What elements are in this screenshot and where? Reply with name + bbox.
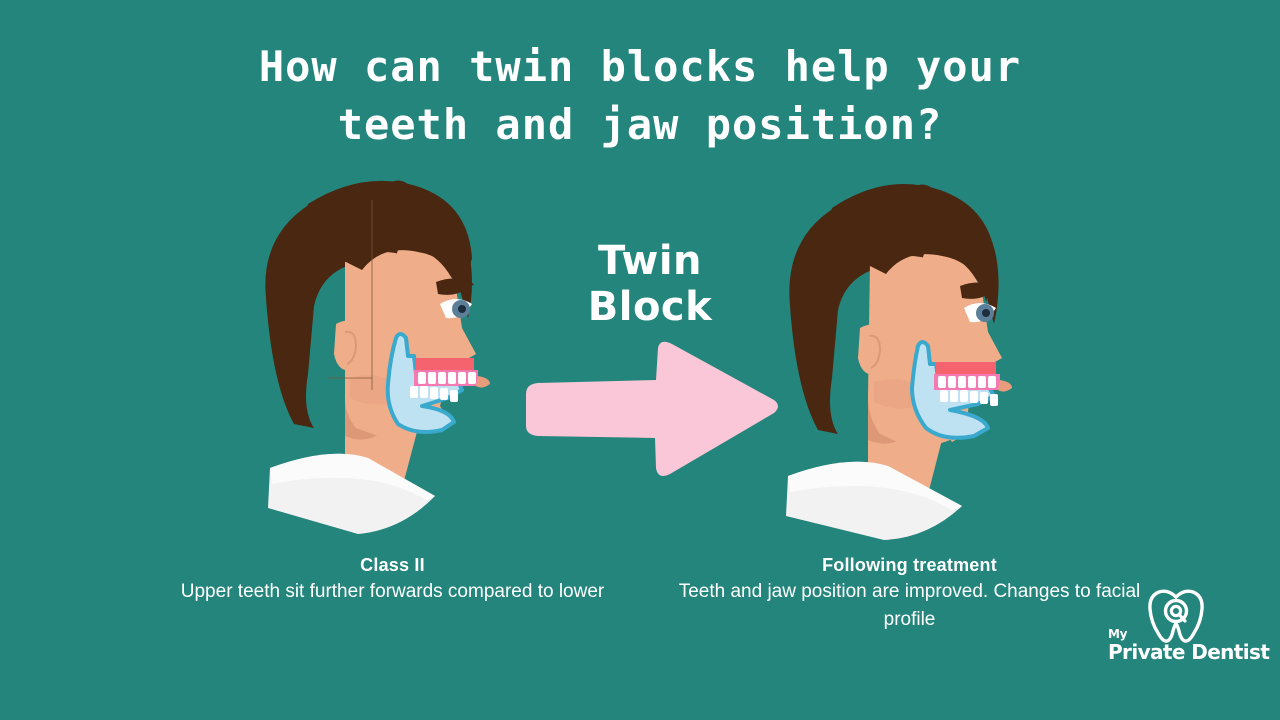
caption-left: Class II Upper teeth sit further forward… bbox=[155, 552, 630, 606]
eye-pupil bbox=[982, 309, 990, 317]
twin-block-line-1: Twin bbox=[560, 238, 740, 284]
logo-name: Private Dentist bbox=[1108, 640, 1269, 664]
page-title-line-2: teeth and jaw position? bbox=[0, 96, 1280, 154]
eye-pupil bbox=[458, 305, 466, 313]
following-treatment-profile-illustration bbox=[780, 178, 1050, 540]
arrow-shape bbox=[526, 342, 778, 476]
caption-right-title: Following treatment bbox=[672, 552, 1147, 578]
caption-right: Following treatment Teeth and jaw positi… bbox=[672, 552, 1147, 634]
infographic-canvas: How can twin blocks help your teeth and … bbox=[0, 0, 1280, 720]
class-two-profile-illustration bbox=[250, 178, 520, 540]
twin-block-line-2: Block bbox=[560, 284, 740, 330]
treatment-arrow bbox=[508, 338, 784, 478]
caption-right-body: Teeth and jaw position are improved. Cha… bbox=[672, 578, 1147, 634]
lips bbox=[476, 376, 490, 388]
upper-palate bbox=[936, 362, 996, 376]
page-title-line-1: How can twin blocks help your bbox=[0, 38, 1280, 96]
page-title: How can twin blocks help your teeth and … bbox=[0, 38, 1280, 154]
brand-logo[interactable]: My Private Dentist bbox=[1108, 588, 1260, 674]
caption-left-title: Class II bbox=[155, 552, 630, 578]
caption-left-body: Upper teeth sit further forwards compare… bbox=[155, 578, 630, 606]
lips bbox=[998, 380, 1012, 392]
twin-block-label: Twin Block bbox=[560, 238, 740, 330]
upper-palate bbox=[416, 358, 474, 372]
tooth-magnifier-icon bbox=[1146, 588, 1206, 646]
